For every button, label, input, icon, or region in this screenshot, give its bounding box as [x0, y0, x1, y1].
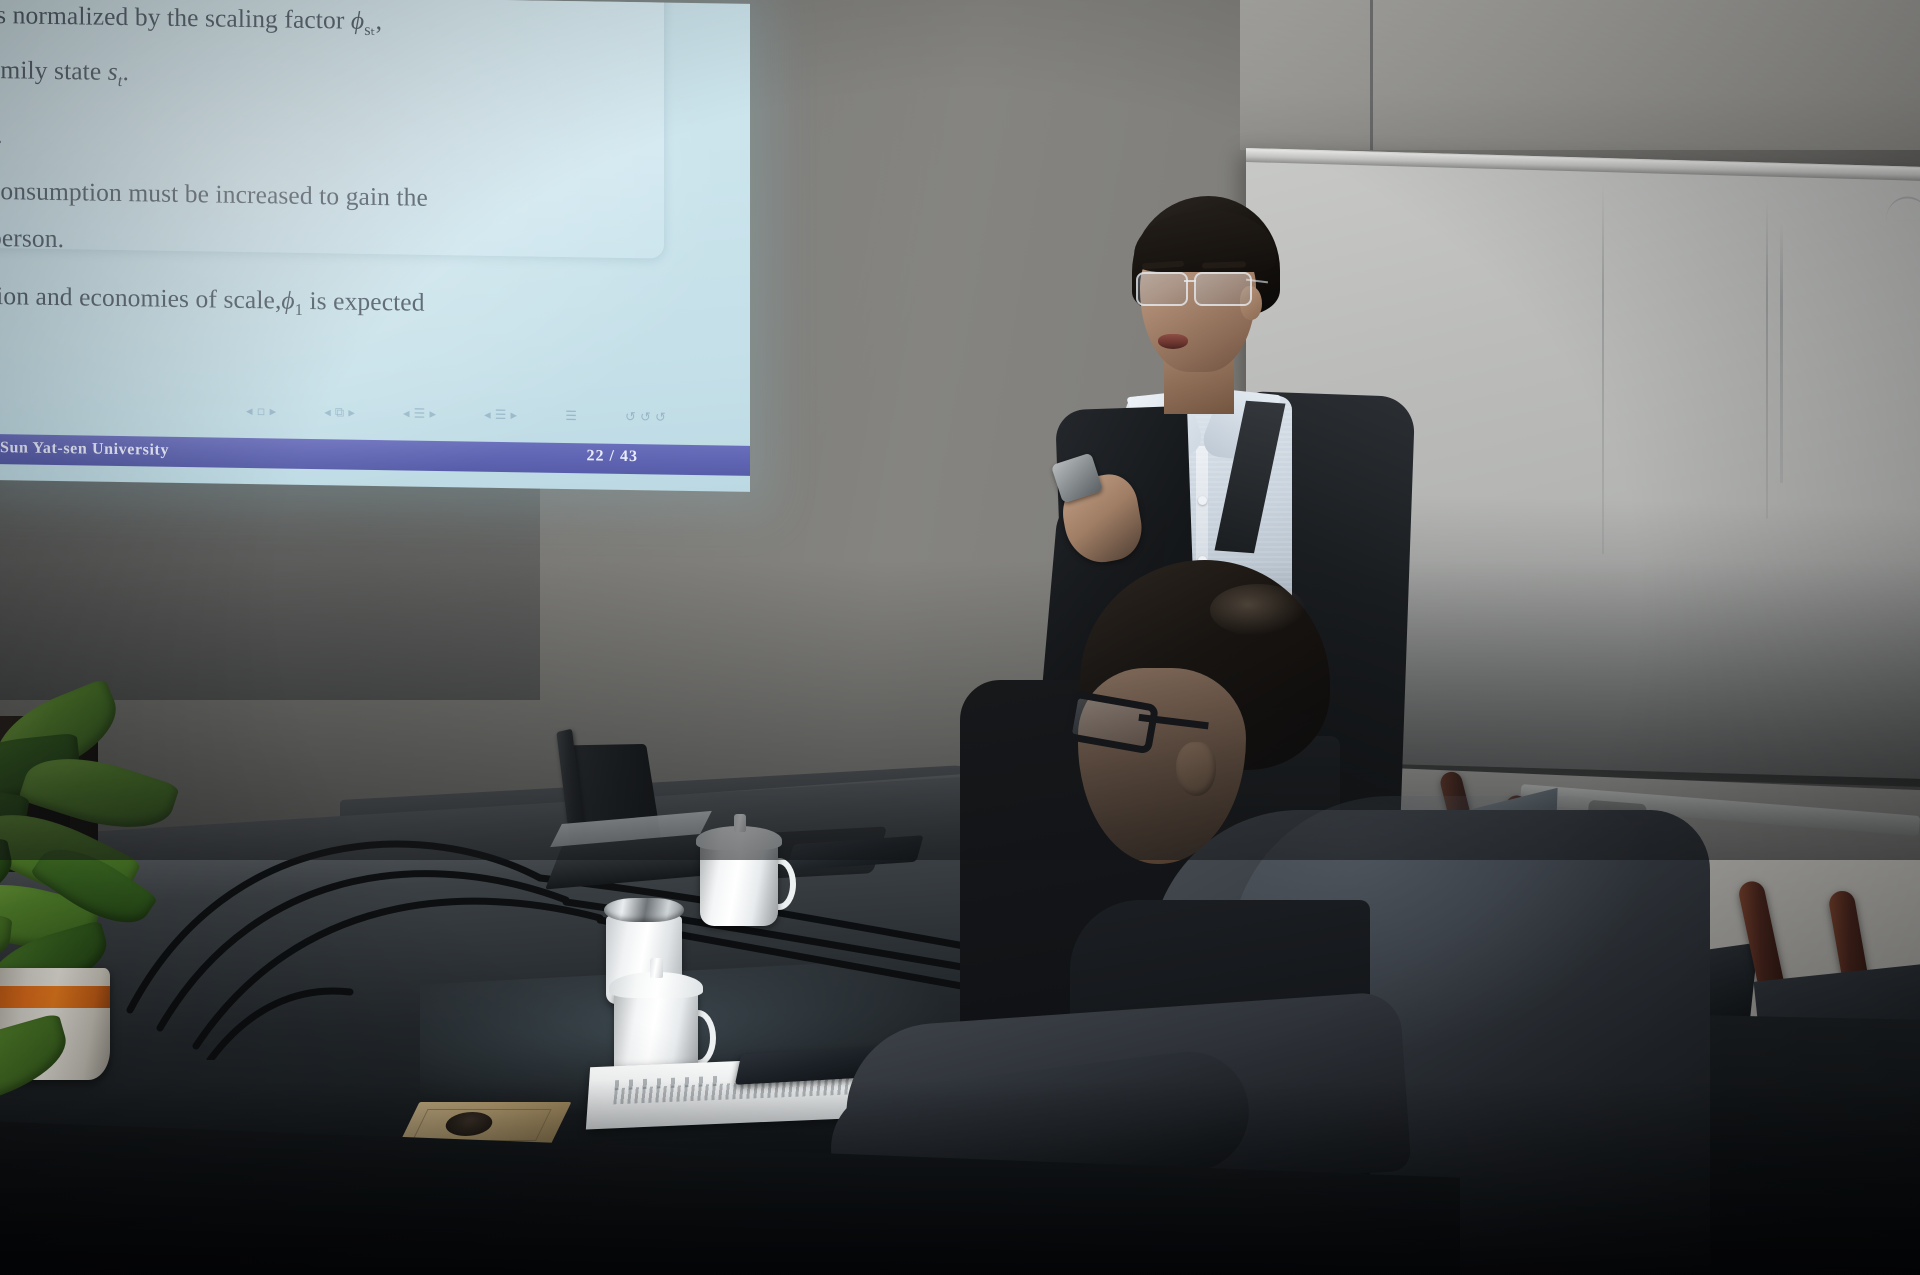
slide-line-2-symbol: s: [108, 57, 118, 86]
slide-line-6-text: tion and economies of scale,: [0, 281, 281, 315]
nav-symbol-subsection-icon[interactable]: ◂ ☰ ▸: [403, 406, 436, 422]
thermos-steel-ring: [604, 898, 684, 922]
glasses-lens-right: [1194, 272, 1252, 306]
slide-line-4: consumption must be increased to gain th…: [0, 176, 750, 218]
nav-symbol-slide-icon[interactable]: ◂ ▫ ▸: [246, 404, 276, 419]
slide-line-2-tail: .: [122, 57, 128, 86]
mug-lid-knob: [650, 958, 663, 978]
nav-symbol-frame-icon[interactable]: ◂ ⧉ ▸: [324, 405, 355, 420]
slide-line-2-text: amily state: [0, 55, 108, 86]
slide-line-6: tion and economies of scale,ϕ1 is expect…: [0, 281, 750, 328]
whiteboard-streak: [1766, 199, 1768, 519]
whiteboard-streak: [1602, 184, 1604, 554]
slide-line-1-tail: ,: [376, 6, 382, 35]
glasses-lens-left: [1136, 272, 1188, 306]
ceiling-seam: [1240, 0, 1920, 150]
plant-pot-stripe: [0, 986, 110, 1008]
footer-institution-label: Sun Yat-sen University: [0, 439, 169, 460]
presenter-shirt-button: [1198, 496, 1207, 505]
slide-line-6-tail: is expected: [303, 286, 425, 317]
whiteboard-mark: [1886, 196, 1920, 221]
wall-bottom-shadow: [0, 560, 1920, 860]
slide-line-2: amily state st.: [0, 55, 750, 102]
nav-symbol-section-icon[interactable]: ◂ ☰ ▸: [484, 408, 517, 424]
beamer-navigation-symbols[interactable]: ◂ ▫ ▸ ◂ ⧉ ▸ ◂ ☰ ▸ ◂ ☰ ▸ ☰ ↺ ↺ ↺: [246, 404, 666, 426]
slide-line-6-subscript: 1: [295, 300, 303, 319]
seminar-photo-scene: is normalized by the scaling factor ϕsₜ,…: [0, 0, 1920, 1275]
slide-line-1-subscript: sₜ: [364, 20, 375, 39]
slide-line-6-symbol: ϕ: [281, 286, 294, 315]
slide-line-5: person.: [0, 223, 750, 265]
whiteboard-streak: [1780, 223, 1783, 483]
nav-symbol-back-forward-icon[interactable]: ↺ ↺ ↺: [625, 410, 666, 426]
nav-symbol-presentation-icon[interactable]: ☰: [565, 409, 577, 424]
projected-slide: is normalized by the scaling factor ϕsₜ,…: [0, 0, 750, 492]
presenter-mouth: [1158, 334, 1188, 349]
rimless-glasses-icon: [1132, 272, 1264, 306]
slide-footer-bar: Sun Yat-sen University 22 / 43: [0, 434, 750, 476]
slide-line-1-symbol: ϕ: [351, 6, 364, 35]
slide-line-1-text: is normalized by the scaling factor: [0, 0, 351, 35]
slide-line-3: l.: [0, 120, 750, 162]
footer-page-number: 22 / 43: [587, 447, 638, 466]
slide-text-lines: is normalized by the scaling factor ϕsₜ,…: [0, 0, 750, 328]
